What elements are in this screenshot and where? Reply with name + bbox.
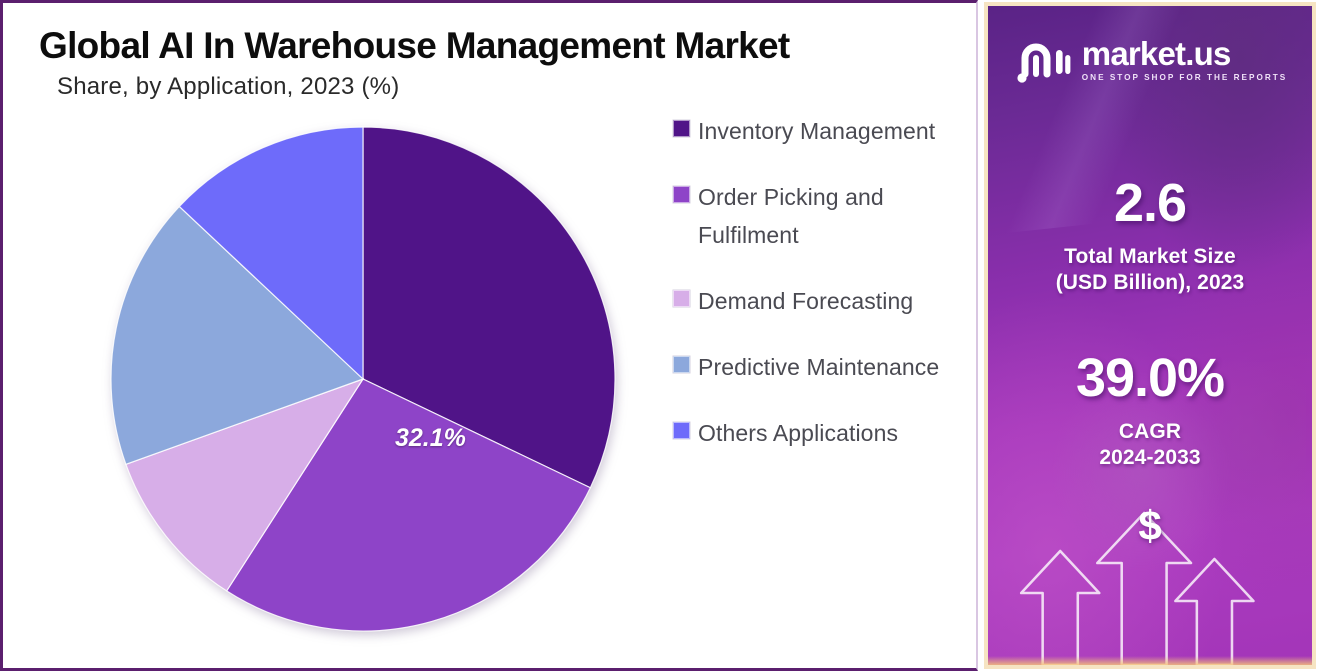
pie-chart-svg: [103, 121, 623, 641]
legend-item-demand-forecasting[interactable]: Demand Forecasting: [673, 283, 973, 320]
legend-item-label: Order Picking and Fulfilment: [698, 179, 968, 254]
stat-caption-line2: 2024-2033: [988, 445, 1312, 471]
legend-swatch-icon: [673, 356, 690, 373]
legend-item-inventory-management[interactable]: Inventory Management: [673, 113, 973, 150]
pie-chart: 32.1%: [103, 121, 623, 641]
dollar-sign-icon: $: [988, 505, 1312, 547]
brand-logo-text: market.us ONE STOP SHOP FOR THE REPORTS: [1082, 37, 1287, 82]
chart-subtitle: Share, by Application, 2023 (%): [57, 73, 969, 101]
legend-item-order-picking-and-fulfilment[interactable]: Order Picking and Fulfilment: [673, 179, 973, 254]
legend-item-predictive-maintenance[interactable]: Predictive Maintenance: [673, 349, 973, 386]
stat-caption-line1: CAGR: [988, 419, 1312, 445]
legend-item-label: Predictive Maintenance: [698, 349, 939, 386]
brand-panel: market.us ONE STOP SHOP FOR THE REPORTS …: [984, 2, 1316, 669]
stat-caption-line1: Total Market Size: [988, 244, 1312, 270]
brand-bottom-accent: [988, 656, 1312, 665]
brand-logo[interactable]: market.us ONE STOP SHOP FOR THE REPORTS: [988, 34, 1312, 84]
legend-item-label: Inventory Management: [698, 113, 935, 150]
legend-item-label: Others Applications: [698, 415, 898, 452]
pie-slices: [111, 127, 615, 631]
legend-swatch-icon: [673, 290, 690, 307]
title-block: Global AI In Warehouse Management Market…: [39, 25, 969, 101]
page-title: Global AI In Warehouse Management Market: [39, 25, 969, 66]
infographic-root: Global AI In Warehouse Management Market…: [0, 0, 1318, 671]
chart-legend: Inventory Management Order Picking and F…: [673, 113, 973, 482]
stat-caption: Total Market Size (USD Billion), 2023: [988, 244, 1312, 295]
legend-item-label: Demand Forecasting: [698, 283, 913, 320]
legend-swatch-icon: [673, 186, 690, 203]
legend-swatch-icon: [673, 120, 690, 137]
chart-panel: Global AI In Warehouse Management Market…: [0, 0, 978, 671]
stat-caption-line2: (USD Billion), 2023: [988, 270, 1312, 296]
brand-wordmark: market.us: [1082, 37, 1231, 70]
stat-cagr: 39.0% CAGR 2024-2033: [988, 351, 1312, 470]
stat-caption: CAGR 2024-2033: [988, 419, 1312, 470]
stat-value: 2.6: [988, 176, 1312, 230]
stat-value: 39.0%: [988, 351, 1312, 405]
legend-item-others-applications[interactable]: Others Applications: [673, 415, 973, 452]
legend-swatch-icon: [673, 422, 690, 439]
stat-total-market-size: 2.6 Total Market Size (USD Billion), 202…: [988, 176, 1312, 295]
market-us-logo-icon: [1013, 34, 1071, 84]
brand-tagline: ONE STOP SHOP FOR THE REPORTS: [1082, 73, 1287, 82]
